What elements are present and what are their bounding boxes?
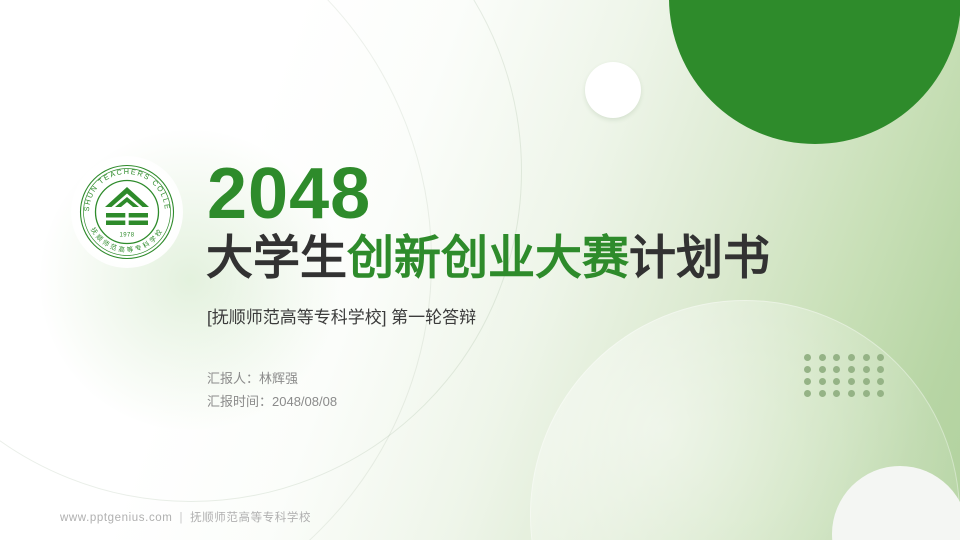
title-lead: 大学生 bbox=[206, 231, 347, 284]
title-tail: 计划书 bbox=[629, 231, 770, 284]
footer: www.pptgenius.com|抚顺师范高等专科学校 bbox=[60, 509, 311, 525]
subtitle: [抚顺师范高等专科学校] 第一轮答辩 bbox=[207, 303, 476, 328]
grid-dot bbox=[863, 354, 870, 361]
grid-dot bbox=[833, 366, 840, 373]
grid-dot bbox=[819, 378, 826, 385]
svg-text:1978: 1978 bbox=[120, 233, 135, 239]
footer-organization: 抚顺师范高等专科学校 bbox=[190, 512, 311, 524]
grid-dot bbox=[877, 378, 884, 385]
grid-dot bbox=[819, 354, 826, 361]
footer-website[interactable]: www.pptgenius.com bbox=[60, 512, 172, 524]
grid-dot bbox=[833, 390, 840, 397]
green-circle-decoration bbox=[669, 0, 960, 144]
year-heading: 2048 bbox=[207, 158, 371, 230]
page-title: 大学生创新创业大赛计划书 bbox=[206, 233, 770, 282]
dot-grid-decoration bbox=[804, 354, 892, 402]
grid-dot bbox=[804, 366, 811, 373]
grid-dot bbox=[819, 366, 826, 373]
college-seal-logo: FUSHUN TEACHERS COLLEGE 抚顺师范高等专科学校 1978 bbox=[71, 156, 183, 268]
grid-dot bbox=[848, 390, 855, 397]
title-slide: FUSHUN TEACHERS COLLEGE 抚顺师范高等专科学校 1978 … bbox=[0, 0, 960, 540]
grid-dot bbox=[819, 390, 826, 397]
grid-dot bbox=[848, 354, 855, 361]
grid-dot bbox=[848, 366, 855, 373]
grid-dot bbox=[804, 390, 811, 397]
grid-dot bbox=[804, 378, 811, 385]
grid-dot bbox=[877, 354, 884, 361]
grid-dot bbox=[848, 378, 855, 385]
presenter-name: 汇报人：林辉强 bbox=[207, 368, 337, 391]
grid-dot bbox=[863, 366, 870, 373]
grid-dot bbox=[804, 354, 811, 361]
presentation-date: 汇报时间：2048/08/08 bbox=[207, 391, 337, 414]
presenter-meta: 汇报人：林辉强 汇报时间：2048/08/08 bbox=[207, 368, 337, 414]
grid-dot bbox=[833, 378, 840, 385]
title-highlight: 创新创业大赛 bbox=[347, 231, 629, 284]
grid-dot bbox=[863, 378, 870, 385]
college-seal-icon: FUSHUN TEACHERS COLLEGE 抚顺师范高等专科学校 1978 bbox=[77, 162, 177, 262]
grid-dot bbox=[877, 390, 884, 397]
footer-separator: | bbox=[179, 512, 183, 524]
grid-dot bbox=[877, 366, 884, 373]
soft-circle-bottom-right bbox=[530, 300, 960, 540]
grid-dot bbox=[863, 390, 870, 397]
grid-dot bbox=[833, 354, 840, 361]
white-dot-circle-decoration bbox=[585, 62, 641, 118]
white-circle-bottom-right bbox=[832, 466, 960, 540]
